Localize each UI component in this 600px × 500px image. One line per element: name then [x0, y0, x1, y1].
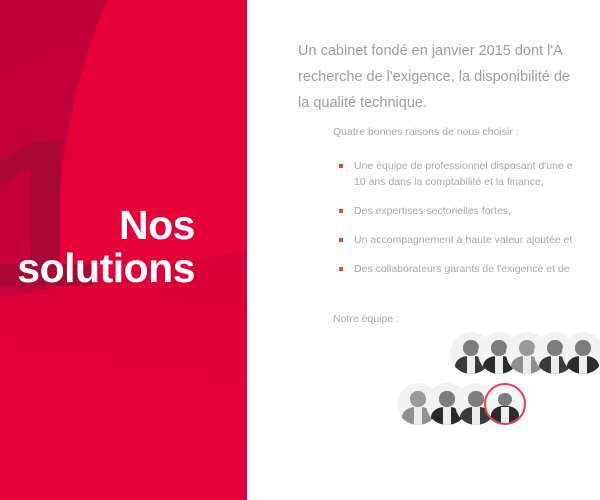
avatar-selected[interactable] [484, 383, 526, 425]
list-item: Un accompagnement à haute valeur ajoutée… [339, 232, 600, 248]
section-cover-panel: 1 Nos solutions [0, 0, 247, 500]
list-item-text: Une équipe de professionnel disposant d'… [354, 160, 573, 172]
list-item: Des collaborateurs garants de l'exigence… [339, 261, 600, 277]
list-item-text: Des expertises sectorielles fortes, [354, 205, 511, 217]
person-silhouette-icon [486, 385, 524, 423]
intro-line-2: recherche de l'exigence, la disponibilit… [298, 64, 600, 90]
list-item: Une équipe de professionnel disposant d'… [339, 158, 600, 190]
page-title-line-2: solutions [0, 248, 195, 289]
content-area: Un cabinet fondé en janvier 2015 dont l'… [247, 0, 600, 500]
team-photo-row-bottom [397, 383, 513, 425]
team-label: Notre équipe : [333, 311, 399, 327]
team-photo-row-top [450, 332, 590, 374]
page-title: Nos solutions [0, 205, 247, 289]
avatar[interactable] [562, 332, 600, 374]
intro-line-1: Un cabinet fondé en janvier 2015 dont l'… [298, 38, 600, 64]
intro-line-3: la qualité technique. [298, 90, 600, 116]
reasons-lead-text: Quatre bonnes raisons de nous choisir : [333, 124, 519, 140]
list-item: Des expertises sectorielles fortes, [339, 203, 600, 219]
person-silhouette-icon [562, 332, 600, 374]
list-item-text: Un accompagnement à haute valeur ajoutée… [354, 234, 572, 246]
page-title-line-1: Nos [0, 205, 195, 246]
intro-paragraph: Un cabinet fondé en janvier 2015 dont l'… [298, 38, 600, 116]
slide-root: 1 Nos solutions Un cabinet fondé en janv… [0, 0, 600, 500]
reasons-list: Une équipe de professionnel disposant d'… [339, 158, 600, 290]
list-item-subtext: 10 ans dans la comptabilité et la financ… [354, 174, 600, 190]
list-item-text: Des collaborateurs garants de l'exigence… [354, 263, 570, 275]
